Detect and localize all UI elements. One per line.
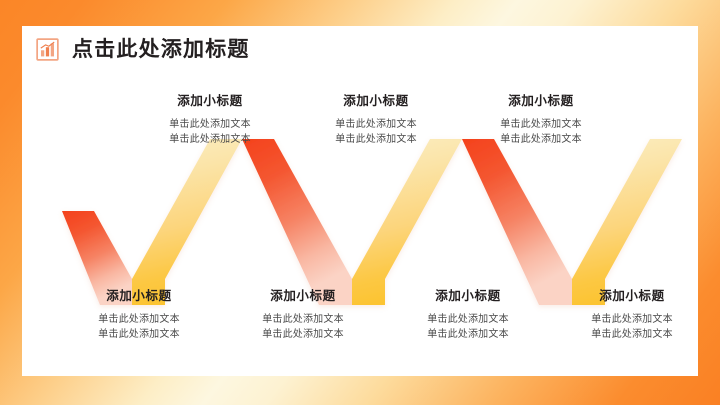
- top-block-2-line-1: 单击此处添加文本: [281, 118, 471, 133]
- bottom-block-1-line-2: 单击此处添加文本: [44, 328, 234, 343]
- bottom-block-3: 添加小标题 单击此处添加文本 单击此处添加文本: [373, 289, 563, 342]
- bottom-block-1-heading: 添加小标题: [44, 289, 234, 304]
- top-block-2: 添加小标题 单击此处添加文本 单击此处添加文本: [281, 94, 471, 147]
- bottom-block-2-line-2: 单击此处添加文本: [208, 328, 398, 343]
- chevron-segment-yellow-2: [352, 139, 462, 305]
- top-block-2-heading: 添加小标题: [281, 94, 471, 109]
- top-block-1-line-2: 单击此处添加文本: [115, 133, 305, 148]
- bottom-block-2-line-1: 单击此处添加文本: [208, 313, 398, 328]
- slide-background: 点击此处添加标题: [0, 0, 720, 405]
- top-block-3-line-1: 单击此处添加文本: [446, 118, 636, 133]
- top-block-1-line-1: 单击此处添加文本: [115, 118, 305, 133]
- bottom-block-4: 添加小标题 单击此处添加文本 单击此处添加文本: [537, 289, 720, 342]
- bottom-block-2: 添加小标题 单击此处添加文本 单击此处添加文本: [208, 289, 398, 342]
- slide-canvas: 点击此处添加标题: [22, 26, 698, 376]
- chevron-segment-yellow-3: [572, 139, 682, 305]
- bottom-block-4-line-2: 单击此处添加文本: [537, 328, 720, 343]
- page-title: 点击此处添加标题: [72, 39, 250, 60]
- bottom-block-3-heading: 添加小标题: [373, 289, 563, 304]
- chevron-segment-red-3: [462, 139, 572, 305]
- bottom-block-1-line-1: 单击此处添加文本: [44, 313, 234, 328]
- bottom-block-4-line-1: 单击此处添加文本: [537, 313, 720, 328]
- bottom-block-4-heading: 添加小标题: [537, 289, 720, 304]
- chevron-segment-yellow-1: [132, 139, 242, 305]
- top-block-3-line-2: 单击此处添加文本: [446, 133, 636, 148]
- bottom-block-1: 添加小标题 单击此处添加文本 单击此处添加文本: [44, 289, 234, 342]
- bottom-block-3-line-2: 单击此处添加文本: [373, 328, 563, 343]
- bottom-block-3-line-1: 单击此处添加文本: [373, 313, 563, 328]
- bar-chart-icon: [36, 38, 59, 61]
- slide-header: 点击此处添加标题: [36, 38, 250, 61]
- chevron-segment-red-2: [242, 139, 352, 305]
- top-block-1: 添加小标题 单击此处添加文本 单击此处添加文本: [115, 94, 305, 147]
- top-block-3-heading: 添加小标题: [446, 94, 636, 109]
- bottom-block-2-heading: 添加小标题: [208, 289, 398, 304]
- top-block-2-line-2: 单击此处添加文本: [281, 133, 471, 148]
- top-block-3: 添加小标题 单击此处添加文本 单击此处添加文本: [446, 94, 636, 147]
- top-block-1-heading: 添加小标题: [115, 94, 305, 109]
